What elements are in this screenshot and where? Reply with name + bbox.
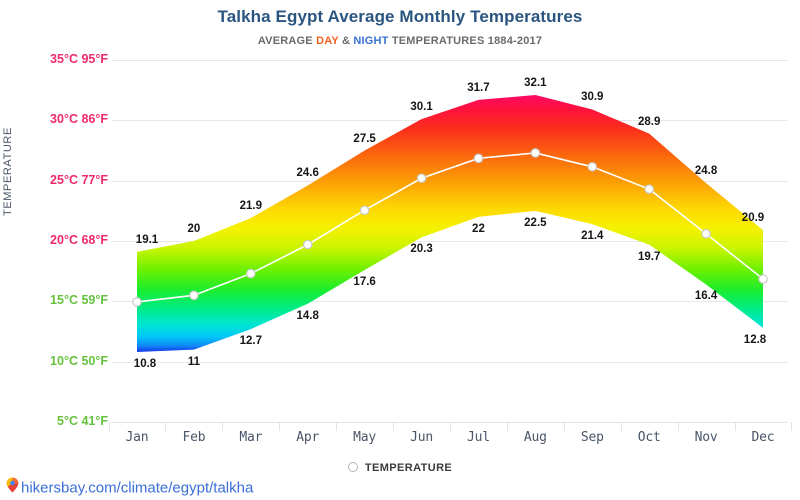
x-axis-tick-separator bbox=[507, 422, 508, 431]
night-value-label-may: 17.6 bbox=[335, 276, 395, 288]
data-point-marker bbox=[133, 298, 141, 306]
night-value-label-feb: 11 bbox=[164, 356, 224, 368]
data-point-marker bbox=[588, 163, 596, 171]
night-value-label-dec: 12.8 bbox=[725, 334, 785, 346]
map-pin-icon bbox=[6, 477, 19, 497]
x-axis-label-mar: Mar bbox=[221, 430, 281, 445]
day-value-label-feb: 20 bbox=[164, 223, 224, 235]
data-point-marker bbox=[304, 240, 312, 248]
x-axis-label-apr: Apr bbox=[278, 430, 338, 445]
data-point-marker bbox=[190, 291, 198, 299]
x-axis-tick-separator bbox=[450, 422, 451, 431]
x-axis-label-sep: Sep bbox=[562, 430, 622, 445]
data-point-marker bbox=[702, 230, 710, 238]
x-axis-tick-separator bbox=[564, 422, 565, 431]
x-axis-label-nov: Nov bbox=[676, 430, 736, 445]
x-axis-tick-separator bbox=[393, 422, 394, 431]
data-point-marker bbox=[645, 185, 653, 193]
data-point-marker bbox=[531, 149, 539, 157]
x-axis-tick-separator bbox=[678, 422, 679, 431]
x-axis-label-jun: Jun bbox=[392, 430, 452, 445]
x-axis-label-jul: Jul bbox=[448, 430, 508, 445]
circle-outline-icon bbox=[348, 462, 358, 472]
x-axis-tick-separator bbox=[735, 422, 736, 431]
climate-chart: Talkha Egypt Average Monthly Temperature… bbox=[0, 0, 800, 500]
x-axis-tick-separator bbox=[791, 422, 792, 431]
day-value-label-aug: 32.1 bbox=[505, 77, 565, 89]
x-axis-tick-separator bbox=[621, 422, 622, 431]
night-value-label-apr: 14.8 bbox=[278, 310, 338, 322]
day-value-label-sep: 30.9 bbox=[562, 91, 622, 103]
legend: TEMPERATURE bbox=[0, 462, 800, 474]
data-point-marker bbox=[360, 206, 368, 214]
night-value-label-mar: 12.7 bbox=[221, 335, 281, 347]
night-value-label-oct: 19.7 bbox=[619, 251, 679, 263]
night-value-label-aug: 22.5 bbox=[505, 217, 565, 229]
day-value-label-jan: 19.1 bbox=[117, 234, 177, 246]
x-axis-tick-separator bbox=[222, 422, 223, 431]
day-value-label-apr: 24.6 bbox=[278, 167, 338, 179]
data-point-marker bbox=[247, 269, 255, 277]
night-value-label-sep: 21.4 bbox=[562, 230, 622, 242]
day-value-label-dec: 20.9 bbox=[723, 212, 783, 224]
x-axis-label-feb: Feb bbox=[164, 430, 224, 445]
night-value-label-nov: 16.4 bbox=[676, 290, 736, 302]
day-value-label-mar: 21.9 bbox=[221, 200, 281, 212]
day-value-label-jun: 30.1 bbox=[392, 101, 452, 113]
x-axis-label-aug: Aug bbox=[505, 430, 565, 445]
source-link[interactable]: hikersbay.com/climate/egypt/talkha bbox=[6, 478, 253, 498]
day-value-label-jul: 31.7 bbox=[448, 82, 508, 94]
x-axis-tick-separator bbox=[336, 422, 337, 431]
legend-label: TEMPERATURE bbox=[365, 462, 452, 474]
x-axis-tick-separator bbox=[279, 422, 280, 431]
data-point-marker bbox=[474, 154, 482, 162]
night-value-label-jul: 22 bbox=[448, 223, 508, 235]
night-value-label-jun: 20.3 bbox=[392, 243, 452, 255]
x-axis-label-oct: Oct bbox=[619, 430, 679, 445]
day-value-label-oct: 28.9 bbox=[619, 116, 679, 128]
data-point-marker bbox=[759, 275, 767, 283]
day-value-label-nov: 24.8 bbox=[676, 165, 736, 177]
data-point-marker bbox=[417, 174, 425, 182]
x-axis-label-jan: Jan bbox=[107, 430, 167, 445]
x-axis-tick-separator bbox=[165, 422, 166, 431]
x-axis-label-may: May bbox=[335, 430, 395, 445]
x-axis-label-dec: Dec bbox=[733, 430, 793, 445]
x-axis-tick-separator bbox=[109, 422, 110, 431]
day-value-label-may: 27.5 bbox=[335, 133, 395, 145]
source-url: hikersbay.com/climate/egypt/talkha bbox=[21, 480, 253, 497]
